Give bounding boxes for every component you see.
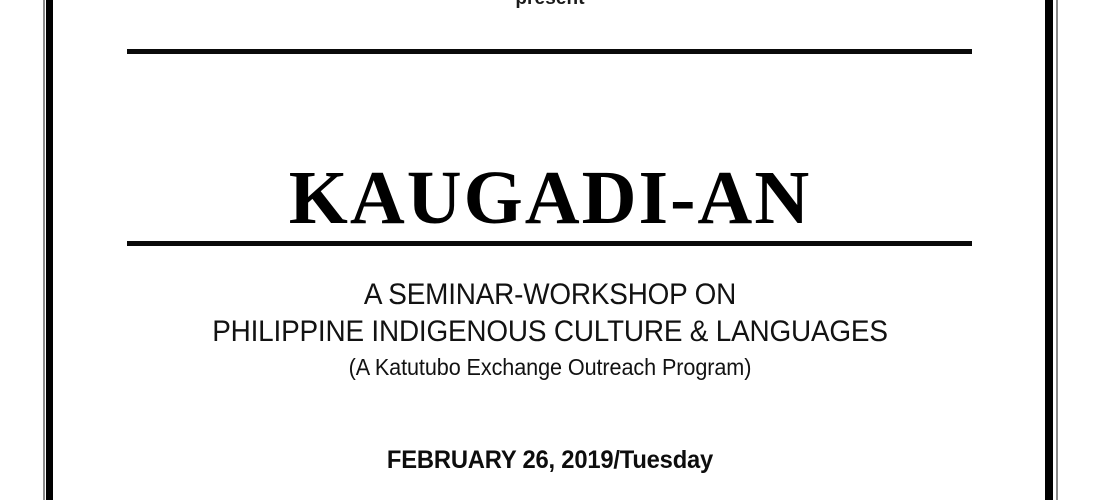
page-title: KAUGADI-AN [55,160,1045,236]
page-border-right-thin [1056,0,1058,500]
page-border-right-thick [1045,0,1053,500]
subtitle-block: A SEMINAR-WORKSHOP ON PHILIPPINE INDIGEN… [55,276,1045,382]
horizontal-rule-bottom [127,241,972,246]
page-border-left-thin [43,0,45,500]
horizontal-rule-top [127,49,972,54]
program-subtitle: (A Katutubo Exchange Outreach Program) [85,352,1016,382]
document-page: present KAUGADI-AN A SEMINAR-WORKSHOP ON… [0,0,1100,500]
subtitle-line-1: A SEMINAR-WORKSHOP ON [90,276,1011,313]
subtitle-line-2: PHILIPPINE INDIGENOUS CULTURE & LANGUAGE… [90,313,1011,350]
page-content: present KAUGADI-AN A SEMINAR-WORKSHOP ON… [55,0,1045,500]
page-border-left-thick [46,0,53,500]
presenter-line: present [55,0,1045,10]
event-date: FEBRUARY 26, 2019/Tuesday [80,446,1021,475]
